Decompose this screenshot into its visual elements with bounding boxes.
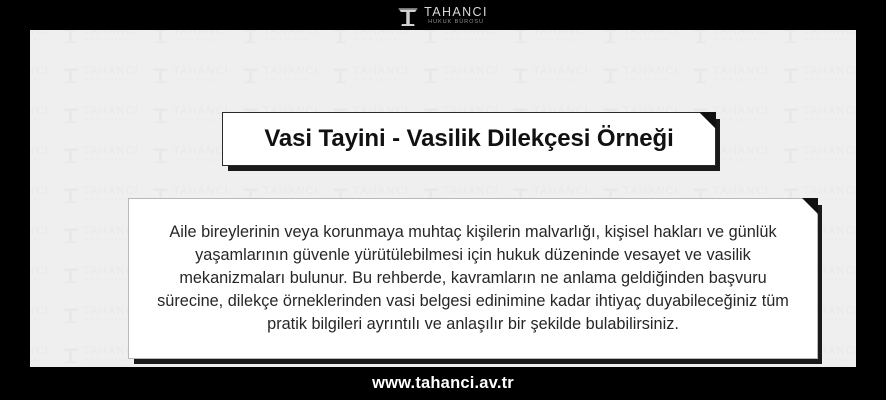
watermark-tagline: HUKUK BÜROSU (263, 39, 319, 44)
watermark-text: TAHANCIHUKUK BÜROSU (30, 66, 49, 84)
watermark-name: TAHANCI (263, 30, 319, 37)
brand-lockup: TAHANCI HUKUK BÜROSU (398, 6, 488, 27)
watermark-name: TAHANCI (30, 186, 49, 197)
watermark-tagline: HUKUK BÜROSU (533, 79, 589, 84)
watermark-text: TAHANCIHUKUK BÜROSU (713, 66, 769, 84)
watermark-text: TAHANCIHUKUK BÜROSU (803, 30, 856, 44)
watermark-name: TAHANCI (533, 30, 589, 37)
pillar-icon (62, 346, 79, 364)
watermark-text: TAHANCIHUKUK BÜROSU (30, 226, 49, 244)
watermark-name: TAHANCI (30, 146, 49, 157)
watermark-text: TAHANCIHUKUK BÜROSU (353, 30, 409, 44)
watermark-logo: TAHANCIHUKUK BÜROSU (242, 66, 319, 84)
watermark-tagline: HUKUK BÜROSU (30, 239, 49, 244)
watermark-name: TAHANCI (803, 66, 856, 77)
pillar-icon (692, 66, 709, 84)
pillar-icon (152, 106, 169, 124)
watermark-tagline: HUKUK BÜROSU (353, 79, 409, 84)
watermark-tagline: HUKUK BÜROSU (173, 119, 229, 124)
watermark-name: TAHANCI (173, 66, 229, 77)
pillar-icon (782, 146, 799, 164)
watermark-text: TAHANCIHUKUK BÜROSU (83, 30, 139, 44)
watermark-text: TAHANCIHUKUK BÜROSU (263, 66, 319, 84)
watermark-logo: TAHANCIHUKUK BÜROSU (422, 66, 499, 84)
watermark-name: TAHANCI (533, 66, 589, 77)
watermark-text: TAHANCIHUKUK BÜROSU (803, 146, 856, 164)
watermark-tagline: HUKUK BÜROSU (713, 79, 769, 84)
watermark-name: TAHANCI (83, 146, 139, 157)
watermark-logo: TAHANCIHUKUK BÜROSU (30, 146, 49, 164)
watermark-name: TAHANCI (30, 306, 49, 317)
watermark-name: TAHANCI (83, 30, 139, 37)
watermark-name: TAHANCI (443, 66, 499, 77)
watermark-logo: TAHANCIHUKUK BÜROSU (62, 66, 139, 84)
watermark-logo: TAHANCIHUKUK BÜROSU (782, 66, 856, 84)
pillar-icon (152, 66, 169, 84)
watermark-logo: TAHANCIHUKUK BÜROSU (30, 30, 49, 44)
watermark-name: TAHANCI (83, 186, 139, 197)
brand-text: TAHANCI HUKUK BÜROSU (424, 6, 488, 26)
watermark-logo: TAHANCIHUKUK BÜROSU (62, 146, 139, 164)
watermark-tagline: HUKUK BÜROSU (533, 39, 589, 44)
watermark-name: TAHANCI (173, 30, 229, 37)
watermark-name: TAHANCI (623, 66, 679, 77)
watermark-name: TAHANCI (30, 346, 49, 357)
watermark-tagline: HUKUK BÜROSU (173, 359, 229, 364)
watermark-tagline: HUKUK BÜROSU (713, 119, 769, 124)
watermark-name: TAHANCI (173, 186, 229, 197)
watermark-logo: TAHANCIHUKUK BÜROSU (332, 66, 409, 84)
watermark-tagline: HUKUK BÜROSU (803, 39, 856, 44)
folded-corner-icon (802, 198, 818, 214)
watermark-tagline: HUKUK BÜROSU (30, 159, 49, 164)
watermark-tagline: HUKUK BÜROSU (30, 319, 49, 324)
watermark-name: TAHANCI (713, 66, 769, 77)
pillar-icon (62, 306, 79, 324)
watermark-logo: TAHANCIHUKUK BÜROSU (30, 66, 49, 84)
watermark-tagline: HUKUK BÜROSU (803, 79, 856, 84)
watermark-tagline: HUKUK BÜROSU (83, 159, 139, 164)
watermark-name: TAHANCI (30, 226, 49, 237)
watermark-tagline: HUKUK BÜROSU (623, 39, 679, 44)
watermark-name: TAHANCI (713, 186, 769, 197)
watermark-name: TAHANCI (713, 146, 769, 157)
watermark-tagline: HUKUK BÜROSU (30, 39, 49, 44)
watermark-text: TAHANCIHUKUK BÜROSU (30, 306, 49, 324)
pillar-icon (782, 66, 799, 84)
watermark-name: TAHANCI (30, 266, 49, 277)
watermark-logo: TAHANCIHUKUK BÜROSU (30, 346, 49, 364)
watermark-name: TAHANCI (803, 146, 856, 157)
watermark-text: TAHANCIHUKUK BÜROSU (30, 106, 49, 124)
watermark-text: TAHANCIHUKUK BÜROSU (173, 30, 229, 44)
pillar-icon (152, 146, 169, 164)
watermark-name: TAHANCI (533, 186, 589, 197)
pillar-icon (332, 66, 349, 84)
watermark-name: TAHANCI (803, 106, 856, 117)
watermark-name: TAHANCI (713, 30, 769, 37)
watermark-logo: TAHANCIHUKUK BÜROSU (62, 106, 139, 124)
pillar-icon (782, 30, 799, 44)
page-title: Vasi Tayini - Vasilik Dilekçesi Örneği (264, 125, 673, 153)
title-card: Vasi Tayini - Vasilik Dilekçesi Örneği (222, 112, 716, 166)
watermark-text: TAHANCIHUKUK BÜROSU (443, 66, 499, 84)
pillar-icon (602, 30, 619, 44)
watermark-text: TAHANCIHUKUK BÜROSU (713, 146, 769, 164)
pillar-icon (602, 66, 619, 84)
body-card: Aile bireylerinin veya korunmaya muhtaç … (128, 198, 818, 359)
watermark-name: TAHANCI (83, 106, 139, 117)
watermark-tagline: HUKUK BÜROSU (533, 359, 589, 364)
pillar-icon (62, 226, 79, 244)
watermark-text: TAHANCIHUKUK BÜROSU (83, 66, 139, 84)
watermark-logo: TAHANCIHUKUK BÜROSU (30, 106, 49, 124)
watermark-text: TAHANCIHUKUK BÜROSU (803, 106, 856, 124)
watermark-text: TAHANCIHUKUK BÜROSU (623, 66, 679, 84)
pillar-icon (512, 66, 529, 84)
watermark-tagline: HUKUK BÜROSU (713, 159, 769, 164)
infographic-canvas: TAHANCI HUKUK BÜROSU TAHANCIHUKUK BÜROSU… (0, 0, 886, 400)
watermark-name: TAHANCI (623, 30, 679, 37)
watermark-text: TAHANCIHUKUK BÜROSU (353, 66, 409, 84)
website-url[interactable]: www.tahanci.av.tr (372, 374, 514, 393)
watermark-logo: TAHANCIHUKUK BÜROSU (152, 146, 229, 164)
watermark-tagline: HUKUK BÜROSU (30, 199, 49, 204)
watermark-tagline: HUKUK BÜROSU (83, 119, 139, 124)
watermark-logo: TAHANCIHUKUK BÜROSU (692, 66, 769, 84)
watermark-text: TAHANCIHUKUK BÜROSU (30, 266, 49, 284)
watermark-tagline: HUKUK BÜROSU (30, 119, 49, 124)
watermark-logo: TAHANCIHUKUK BÜROSU (782, 106, 856, 124)
watermark-tagline: HUKUK BÜROSU (83, 39, 139, 44)
watermark-logo: TAHANCIHUKUK BÜROSU (692, 30, 769, 44)
watermark-tagline: HUKUK BÜROSU (803, 359, 856, 364)
watermark-text: TAHANCIHUKUK BÜROSU (803, 66, 856, 84)
watermark-tagline: HUKUK BÜROSU (263, 79, 319, 84)
watermark-name: TAHANCI (30, 66, 49, 77)
watermark-tagline: HUKUK BÜROSU (173, 79, 229, 84)
pillar-icon (782, 106, 799, 124)
watermark-tagline: HUKUK BÜROSU (30, 79, 49, 84)
watermark-logo: TAHANCIHUKUK BÜROSU (30, 186, 49, 204)
pillar-icon (62, 106, 79, 124)
watermark-text: TAHANCIHUKUK BÜROSU (30, 146, 49, 164)
pillar-icon (398, 6, 418, 27)
watermark-logo: TAHANCIHUKUK BÜROSU (512, 66, 589, 84)
watermark-tagline: HUKUK BÜROSU (83, 359, 139, 364)
watermark-logo: TAHANCIHUKUK BÜROSU (332, 30, 409, 44)
watermark-logo: TAHANCIHUKUK BÜROSU (30, 306, 49, 324)
watermark-text: TAHANCIHUKUK BÜROSU (263, 30, 319, 44)
watermark-name: TAHANCI (443, 30, 499, 37)
pillar-icon (332, 30, 349, 44)
folded-corner-icon (699, 112, 716, 129)
brand-tagline: HUKUK BÜROSU (428, 20, 484, 26)
watermark-text: TAHANCIHUKUK BÜROSU (30, 346, 49, 364)
watermark-name: TAHANCI (30, 106, 49, 117)
watermark-logo: TAHANCIHUKUK BÜROSU (242, 30, 319, 44)
watermark-name: TAHANCI (803, 30, 856, 37)
watermark-tagline: HUKUK BÜROSU (353, 359, 409, 364)
watermark-name: TAHANCI (803, 186, 856, 197)
watermark-text: TAHANCIHUKUK BÜROSU (713, 30, 769, 44)
pillar-icon (152, 30, 169, 44)
watermark-name: TAHANCI (623, 186, 679, 197)
watermark-name: TAHANCI (713, 106, 769, 117)
watermark-name: TAHANCI (353, 66, 409, 77)
watermark-text: TAHANCIHUKUK BÜROSU (83, 146, 139, 164)
watermark-name: TAHANCI (353, 186, 409, 197)
watermark-tagline: HUKUK BÜROSU (443, 359, 499, 364)
watermark-text: TAHANCIHUKUK BÜROSU (173, 106, 229, 124)
watermark-logo: TAHANCIHUKUK BÜROSU (62, 30, 139, 44)
watermark-name: TAHANCI (353, 30, 409, 37)
pillar-icon (242, 66, 259, 84)
pillar-icon (422, 66, 439, 84)
pillar-icon (242, 30, 259, 44)
watermark-text: TAHANCIHUKUK BÜROSU (443, 30, 499, 44)
watermark-name: TAHANCI (83, 66, 139, 77)
pillar-icon (62, 186, 79, 204)
watermark-tagline: HUKUK BÜROSU (263, 359, 319, 364)
watermark-name: TAHANCI (173, 146, 229, 157)
watermark-text: TAHANCIHUKUK BÜROSU (30, 30, 49, 44)
watermark-text: TAHANCIHUKUK BÜROSU (533, 30, 589, 44)
watermark-text: TAHANCIHUKUK BÜROSU (173, 146, 229, 164)
watermark-tagline: HUKUK BÜROSU (623, 79, 679, 84)
watermark-tagline: HUKUK BÜROSU (173, 159, 229, 164)
watermark-name: TAHANCI (173, 106, 229, 117)
pillar-icon (62, 66, 79, 84)
watermark-logo: TAHANCIHUKUK BÜROSU (30, 266, 49, 284)
watermark-logo: TAHANCIHUKUK BÜROSU (422, 30, 499, 44)
pillar-icon (692, 30, 709, 44)
watermark-tagline: HUKUK BÜROSU (173, 39, 229, 44)
watermark-tagline: HUKUK BÜROSU (623, 359, 679, 364)
pillar-icon (62, 30, 79, 44)
pillar-icon (62, 266, 79, 284)
watermark-name: TAHANCI (30, 30, 49, 37)
watermark-tagline: HUKUK BÜROSU (30, 279, 49, 284)
watermark-tagline: HUKUK BÜROSU (803, 159, 856, 164)
watermark-logo: TAHANCIHUKUK BÜROSU (152, 106, 229, 124)
watermark-tagline: HUKUK BÜROSU (443, 39, 499, 44)
watermark-name: TAHANCI (443, 186, 499, 197)
watermark-logo: TAHANCIHUKUK BÜROSU (782, 30, 856, 44)
pillar-icon (512, 30, 529, 44)
watermark-text: TAHANCIHUKUK BÜROSU (83, 106, 139, 124)
watermark-text: TAHANCIHUKUK BÜROSU (713, 106, 769, 124)
watermark-tagline: HUKUK BÜROSU (443, 79, 499, 84)
watermark-logo: TAHANCIHUKUK BÜROSU (30, 226, 49, 244)
watermark-tagline: HUKUK BÜROSU (803, 119, 856, 124)
body-paragraph: Aile bireylerinin veya korunmaya muhtaç … (129, 221, 817, 336)
watermark-logo: TAHANCIHUKUK BÜROSU (512, 30, 589, 44)
watermark-text: TAHANCIHUKUK BÜROSU (173, 66, 229, 84)
watermark-logo: TAHANCIHUKUK BÜROSU (602, 66, 679, 84)
watermark-logo: TAHANCIHUKUK BÜROSU (152, 30, 229, 44)
header-band: TAHANCI HUKUK BÜROSU (0, 0, 886, 30)
watermark-tagline: HUKUK BÜROSU (713, 359, 769, 364)
watermark-text: TAHANCIHUKUK BÜROSU (30, 186, 49, 204)
watermark-tagline: HUKUK BÜROSU (353, 39, 409, 44)
watermark-logo: TAHANCIHUKUK BÜROSU (152, 66, 229, 84)
watermark-text: TAHANCIHUKUK BÜROSU (533, 66, 589, 84)
watermark-tagline: HUKUK BÜROSU (30, 359, 49, 364)
watermark-name: TAHANCI (263, 186, 319, 197)
pillar-icon (422, 30, 439, 44)
watermark-name: TAHANCI (263, 66, 319, 77)
content-canvas: TAHANCIHUKUK BÜROSUTAHANCIHUKUK BÜROSUTA… (30, 30, 856, 367)
watermark-text: TAHANCIHUKUK BÜROSU (623, 30, 679, 44)
watermark-logo: TAHANCIHUKUK BÜROSU (602, 30, 679, 44)
brand-name: TAHANCI (424, 6, 488, 19)
footer-band: www.tahanci.av.tr (0, 367, 886, 400)
watermark-logo: TAHANCIHUKUK BÜROSU (782, 146, 856, 164)
watermark-tagline: HUKUK BÜROSU (83, 79, 139, 84)
pillar-icon (62, 146, 79, 164)
watermark-tagline: HUKUK BÜROSU (713, 39, 769, 44)
